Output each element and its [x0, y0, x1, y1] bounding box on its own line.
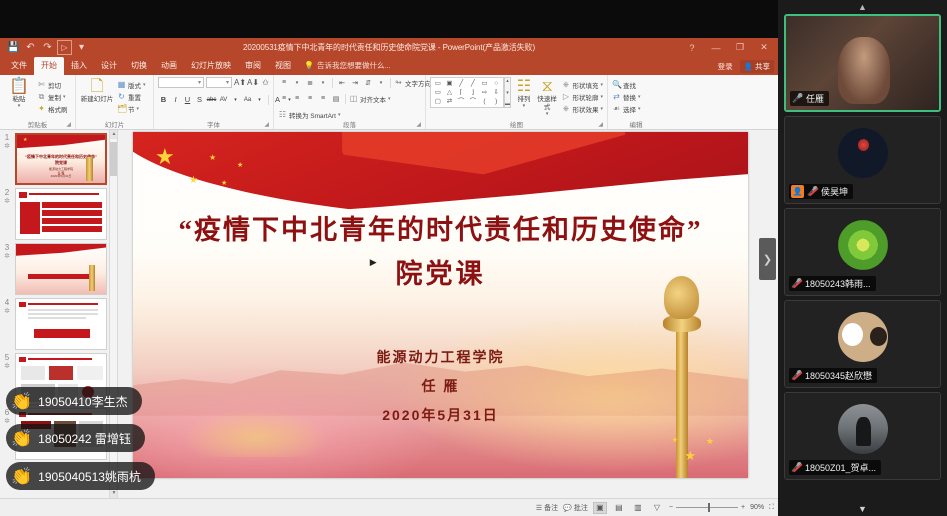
slide-title-line2: 院党课	[133, 252, 748, 291]
format-painter-button[interactable]: ✦ 格式刷	[37, 103, 68, 114]
convert-to-smartart-button[interactable]: ☷ 转换为 SmartArt ▾	[278, 109, 340, 120]
shape-item[interactable]: ⇨	[479, 88, 491, 97]
share-button[interactable]: 👤 共享	[740, 60, 774, 73]
layout-icon: ▦	[117, 80, 126, 89]
shape-item[interactable]: ▣	[444, 79, 456, 88]
smartart-icon: ☷	[278, 110, 287, 119]
change-case-button[interactable]: Aa	[242, 94, 253, 105]
thumbnail-row[interactable]: 1 ✲ ★ “疫情下中北青年的时代责任和历史使命” 院党课 能源动力工程学院 任…	[0, 130, 117, 185]
shape-effects-button[interactable]: ⎈ 形状效果 ▾	[561, 103, 603, 114]
ribbon: 📋 粘贴 ▾ ✄ 剪切 ⧉ 复制 ▾	[0, 75, 778, 130]
text-shadow-button[interactable]: S	[194, 94, 205, 105]
host-badge-icon: 👤	[791, 185, 804, 198]
shape-item[interactable]: ⇩	[490, 88, 502, 97]
lightbulb-icon: 💡	[304, 61, 314, 70]
font-group-label: 字体 ◢	[158, 121, 269, 130]
shape-item[interactable]: (	[479, 97, 491, 106]
scroll-up-arrow[interactable]: ▲	[110, 130, 118, 139]
convert-smartart-label: 转换为 SmartArt	[289, 110, 336, 120]
participant-namebar: 🎤 任雁	[790, 91, 829, 106]
section-label: 节	[128, 104, 135, 114]
editing-group-label: 编辑	[612, 121, 660, 130]
quick-styles-label: 快速样式	[537, 96, 558, 112]
toast-text: 1905040513姚雨杭	[38, 468, 141, 485]
participant-video-rail: ▲ 🎤 任雁 👤 🎤 侯昊坤 🎤 1805024	[778, 0, 947, 516]
dialog-launcher-icon[interactable]: ◢	[598, 121, 603, 130]
shape-item[interactable]: ╱	[455, 79, 467, 88]
divider	[390, 78, 391, 88]
layout-label: 版式	[128, 80, 141, 90]
ribbon-group-clipboard: 📋 粘贴 ▾ ✄ 剪切 ⧉ 复制 ▾	[0, 75, 76, 130]
desktop-background	[0, 0, 778, 38]
participant-name: 18050Z01_贺卓...	[805, 461, 876, 474]
restore-button[interactable]: ❐	[728, 38, 752, 57]
rail-scroll-down-arrow[interactable]: ▼	[778, 502, 947, 516]
toast-text: 19050410李生杰	[38, 393, 127, 410]
participant-tile-1[interactable]: 🎤 任雁	[784, 14, 941, 112]
comments-label: 批注	[574, 503, 588, 513]
shape-item[interactable]: ▢	[432, 97, 444, 106]
dialog-launcher-icon[interactable]: ◢	[264, 121, 269, 130]
copy-button[interactable]: ⧉ 复制 ▾	[37, 91, 68, 102]
fit-to-window-button[interactable]: ⛶	[769, 504, 774, 512]
thumbnail-index: 1 ✲	[2, 133, 12, 185]
slide-stage: ★ ★ ★ ★ ★ “疫情下中北青年的时代责任和历史使命” 院党课 能源动力工程…	[118, 130, 778, 498]
participant-name: 18050243韩雨...	[805, 277, 871, 290]
paintbrush-icon: ✦	[37, 104, 46, 113]
reaction-toast-3[interactable]: 👏 1905040513姚雨杭	[6, 462, 155, 490]
copy-label: 复制	[48, 92, 61, 102]
increase-indent-button[interactable]: ⇥	[349, 77, 361, 88]
paragraph-group-text: 段落	[343, 122, 356, 129]
replace-label: 替换	[623, 92, 636, 102]
chevron-down-icon[interactable]: ▾	[338, 112, 341, 118]
cut-label: 剪切	[48, 80, 61, 90]
participant-name: 任雁	[806, 92, 824, 105]
zoom-slider[interactable]: − +	[669, 504, 745, 511]
editing-group-text: 编辑	[630, 122, 643, 129]
align-text-icon: ◫	[349, 94, 358, 103]
align-text-label: 对齐文本	[360, 94, 386, 104]
status-right: ☰ 备注 💬 批注 ▣ ▤ ▥ ▽ − + 90% ⛶	[536, 502, 778, 514]
title-bar: 💾 ↶ ↷ ▷ ▾ 20200531疫情下中北青年的时代责任和历史使命院党课 -…	[0, 38, 778, 57]
mouse-cursor: ▶	[370, 257, 377, 268]
shape-item[interactable]: ⇄	[444, 97, 456, 106]
find-label: 查找	[623, 80, 636, 90]
slide-subtitle-line-2: 任 雁	[133, 376, 748, 396]
zoom-track[interactable]	[676, 507, 738, 508]
scrollbar-thumb[interactable]	[110, 142, 118, 176]
quick-access-toolbar: 💾 ↶ ↷ ▷ ▾	[0, 40, 89, 55]
shape-outline-button[interactable]: ▷ 形状轮廓 ▾	[561, 91, 603, 102]
animation-star-icon: ✲	[4, 198, 10, 206]
undo-icon[interactable]: ↶	[23, 40, 38, 55]
select-button[interactable]: ☙ 选择 ▾	[612, 103, 641, 114]
new-slide-label: 新建幻灯片	[81, 96, 114, 104]
shape-item[interactable]: ⌋	[467, 88, 479, 97]
start-slideshow-icon[interactable]: ▷	[57, 40, 72, 55]
chevron-down-icon[interactable]: ▾	[638, 106, 641, 112]
character-spacing-button[interactable]: AV	[218, 94, 229, 105]
minimize-button[interactable]: —	[704, 38, 728, 57]
notes-label: 备注	[544, 503, 558, 513]
font-name-caret: ▾	[198, 79, 201, 86]
shape-outline-label: 形状轮廓	[572, 92, 598, 102]
shape-fill-button[interactable]: ⎈ 形状填充 ▾	[561, 79, 603, 90]
slides-group-label: 幻灯片	[80, 121, 149, 130]
font-name-input[interactable]: ▾	[158, 77, 204, 88]
avatar	[838, 312, 888, 362]
microphone-muted-icon[interactable]: 🎤	[807, 186, 818, 197]
toast-text: 18050242 雷增钰	[38, 430, 131, 447]
rail-scroll-up-arrow[interactable]: ▲	[784, 0, 941, 14]
animation-star-icon: ✲	[4, 418, 10, 426]
numbering-button[interactable]: ≣	[304, 77, 316, 88]
animation-star-icon: ✲	[4, 253, 10, 261]
comment-icon: 💬	[563, 504, 572, 512]
format-painter-label: 格式刷	[48, 104, 68, 114]
clap-icon: 👏	[11, 393, 32, 410]
slide-title-line1: “疫情下中北青年的时代责任和历史使命”	[133, 208, 748, 247]
chevron-up-icon[interactable]: ▴	[506, 78, 509, 84]
star-icon: ★	[684, 449, 696, 462]
star-icon: ★	[221, 180, 227, 187]
reset-button[interactable]: ↻ 重置	[117, 91, 146, 102]
tell-me-search[interactable]: 💡 告诉我您想要做什么...	[304, 60, 391, 75]
participant-namebar: 👤 🎤 侯昊坤	[789, 184, 853, 199]
tab-view[interactable]: 视图	[268, 57, 298, 75]
font-size-input[interactable]: ▾	[206, 77, 232, 88]
avatar	[838, 128, 888, 178]
slide-thumbnail-3[interactable]	[15, 243, 107, 295]
bold-button[interactable]: B	[158, 94, 169, 105]
bullets-button[interactable]: ≡	[278, 77, 290, 88]
new-slide-button[interactable]: 🗋 新建幻灯片	[80, 77, 114, 104]
shape-fill-label: 形状填充	[572, 80, 598, 90]
shape-item[interactable]: ○	[490, 79, 502, 88]
zoom-knob[interactable]	[708, 503, 710, 512]
section-icon: 🗂	[117, 104, 126, 113]
participant-namebar: 🎤 18050Z01_贺卓...	[789, 460, 881, 475]
microphone-icon[interactable]: 🎤	[792, 93, 803, 104]
star-icon: ★	[237, 162, 243, 169]
chevron-down-icon[interactable]: ▾	[18, 104, 21, 109]
paragraph-group-label: 段落 ◢	[278, 121, 421, 130]
thumbnail-number: 3	[5, 243, 9, 253]
decrease-font-size-icon[interactable]: A⬇	[247, 78, 258, 87]
clear-formatting-icon[interactable]: ✩	[260, 78, 271, 87]
quick-styles-icon: ⧖	[542, 79, 553, 95]
tab-animations[interactable]: 动画	[154, 57, 184, 75]
ribbon-group-slides: 🗋 新建幻灯片 ▦ 版式 ▾ ↻ 重置	[76, 75, 154, 130]
underline-button[interactable]: U	[182, 94, 193, 105]
shape-item[interactable]: ⌈	[455, 88, 467, 97]
shape-item[interactable]: ▭	[479, 79, 491, 88]
align-text-button[interactable]: ◫ 对齐文本 ▾	[349, 93, 391, 104]
ribbon-tabs: 文件 开始 插入 设计 切换 动画 幻灯片放映 审阅 视图 💡 告诉我您想要做什…	[0, 57, 778, 75]
chevron-down-icon[interactable]: ▾	[143, 82, 146, 88]
clipboard-icon: 📋	[9, 79, 29, 95]
current-slide[interactable]: ★ ★ ★ ★ ★ “疫情下中北青年的时代责任和历史使命” 院党课 能源动力工程…	[133, 132, 748, 478]
tab-insert[interactable]: 插入	[64, 57, 94, 75]
drawing-group-label: 绘图 ◢	[430, 121, 603, 130]
drawing-group-text: 绘图	[510, 122, 523, 129]
cut-button[interactable]: ✄ 剪切	[37, 79, 68, 90]
increase-font-size-icon[interactable]: A⬆	[234, 78, 245, 87]
chevron-down-icon[interactable]: ▾	[137, 106, 140, 112]
signin-button[interactable]: 登录	[718, 61, 733, 72]
slides-group-text: 幻灯片	[105, 122, 125, 129]
ribbon-group-editing: 🔍 查找 ⇄ 替换 ▾ ☙ 选择 ▾	[608, 75, 664, 130]
slide-subtitle-line-1: 能源动力工程学院	[133, 347, 748, 367]
chevron-down-icon[interactable]: ▾	[600, 106, 603, 112]
replace-button[interactable]: ⇄ 替换 ▾	[612, 91, 641, 102]
align-center-button[interactable]: ≡	[291, 93, 303, 104]
divider	[268, 95, 269, 105]
microphone-muted-icon[interactable]: 🎤	[791, 370, 802, 381]
dialog-launcher-icon[interactable]: ◢	[416, 121, 421, 130]
ribbon-group-drawing: ▭ ▣ ╱ ╱ ▭ ○ ▭ △ ⌈ ⌋ ⇨ ⇩ ▢	[426, 75, 608, 130]
reading-view-button[interactable]: ▥	[631, 502, 645, 514]
person-icon: 👤	[744, 62, 753, 71]
customize-quick-access-icon[interactable]: ▾	[74, 40, 89, 55]
window-title: 20200531疫情下中北青年的时代责任和历史使命院党课 - PowerPoin…	[0, 42, 778, 53]
slide-thumbnail-2[interactable]	[15, 188, 107, 240]
shape-effects-icon: ⎈	[561, 104, 570, 114]
thumbnail-number: 2	[5, 188, 9, 198]
participant-tile-2[interactable]: 👤 🎤 侯昊坤	[784, 116, 941, 204]
chevron-down-icon[interactable]: ▾	[291, 77, 303, 88]
justify-button[interactable]: ≡	[317, 93, 329, 104]
tab-file[interactable]: 文件	[4, 57, 34, 75]
slide-title-block[interactable]: “疫情下中北青年的时代责任和历史使命” 院党课	[133, 208, 748, 291]
microphone-muted-icon[interactable]: 🎤	[791, 462, 802, 473]
slide-subtitle-block[interactable]: 能源动力工程学院 任 雁 2020年5月31日	[133, 347, 748, 434]
slide-thumbnail-4[interactable]	[15, 298, 107, 350]
shape-item[interactable]: ▭	[432, 79, 444, 88]
comments-button[interactable]: 💬 批注	[563, 503, 588, 513]
normal-view-button[interactable]: ▣	[593, 502, 607, 514]
star-icon: ★	[189, 176, 198, 186]
avatar	[838, 404, 888, 454]
cursor-icon: ☙	[612, 104, 621, 113]
chevron-down-icon[interactable]: ▾	[638, 94, 641, 100]
section-button[interactable]: 🗂 节 ▾	[117, 103, 146, 114]
shape-item[interactable]: )	[490, 97, 502, 106]
window-controls: ? — ❐ ✕	[680, 38, 776, 57]
participant-namebar: 🎤 18050243韩雨...	[789, 276, 876, 291]
chevron-down-icon[interactable]: ▾	[546, 112, 549, 117]
line-spacing-button[interactable]: ⇵	[362, 77, 374, 88]
thumbnail-row[interactable]: 2 ✲	[0, 185, 117, 240]
quick-styles-button[interactable]: ⧖ 快速样式 ▾	[537, 77, 558, 117]
microphone-muted-icon[interactable]: 🎤	[791, 278, 802, 289]
shapes-gallery[interactable]: ▭ ▣ ╱ ╱ ▭ ○ ▭ △ ⌈ ⌋ ⇨ ⇩ ▢	[430, 77, 504, 108]
more-shapes-icon[interactable]: ▬	[505, 101, 510, 107]
participant-namebar: 🎤 18050345赵欣懋	[789, 368, 877, 383]
find-button[interactable]: 🔍 查找	[612, 79, 641, 90]
new-slide-icon: 🗋	[91, 79, 104, 95]
ribbon-group-paragraph: ≡ ▾ ≣ ▾ ⇤ ⇥ ⇵ ▾ ↬ 文字方向 ▾	[274, 75, 426, 130]
participant-tile-4[interactable]: 🎤 18050345赵欣懋	[784, 300, 941, 388]
arrange-button[interactable]: ☷ 排列 ▾	[515, 77, 533, 109]
tab-home[interactable]: 开始	[34, 57, 64, 75]
tab-review[interactable]: 审阅	[238, 57, 268, 75]
align-left-button[interactable]: ≡	[278, 93, 290, 104]
clipboard-group-label: 剪贴板 ◢	[4, 121, 71, 130]
copy-icon: ⧉	[37, 92, 46, 102]
participant-name: 侯昊坤	[821, 185, 848, 198]
shape-item[interactable]: ╱	[467, 79, 479, 88]
chevron-down-icon[interactable]: ▾	[600, 82, 603, 88]
star-icon: ★	[209, 154, 216, 162]
select-label: 选择	[623, 104, 636, 114]
shape-item[interactable]: ⌒	[455, 97, 467, 106]
chevron-down-icon[interactable]: ▾	[388, 96, 391, 102]
shape-item[interactable]: ▭	[432, 88, 444, 97]
tab-design[interactable]: 设计	[94, 57, 124, 75]
layout-button[interactable]: ▦ 版式 ▾	[117, 79, 146, 90]
tell-me-label: 告诉我您想要做什么...	[317, 60, 391, 71]
shape-effects-label: 形状效果	[572, 104, 598, 114]
ribbon-group-font: ▾ ▾ A⬆ A⬇ ✩ B I U S abc	[154, 75, 274, 130]
share-label: 共享	[755, 61, 770, 72]
thumbnail-number: 1	[5, 133, 9, 143]
zoom-in-button[interactable]: +	[741, 504, 745, 511]
arrange-icon: ☷	[517, 79, 531, 95]
chevron-down-icon[interactable]: ▾	[523, 104, 526, 109]
dialog-launcher-icon[interactable]: ◢	[66, 121, 71, 130]
chevron-down-icon[interactable]: ▾	[375, 77, 387, 88]
search-icon: 🔍	[612, 80, 621, 89]
tab-transitions[interactable]: 切换	[124, 57, 154, 75]
chevron-down-icon[interactable]: ▾	[230, 94, 241, 105]
chevron-down-icon[interactable]: ▾	[506, 90, 509, 96]
thumbnail-number: 5	[5, 353, 9, 363]
chevron-down-icon[interactable]: ▾	[63, 94, 66, 100]
font-group-text: 字体	[207, 122, 220, 129]
thumbnail-index: 4 ✲	[2, 298, 12, 350]
thumbnail-index: 2 ✲	[2, 188, 12, 240]
reaction-toast-2[interactable]: 👏 18050242 雷增钰	[6, 424, 145, 452]
clap-icon: 👏	[11, 430, 32, 447]
columns-button[interactable]: ▤	[330, 93, 342, 104]
clipboard-group-text: 剪贴板	[28, 122, 48, 129]
slide-subtitle-line-3: 2020年5月31日	[133, 405, 748, 425]
decrease-indent-button[interactable]: ⇤	[336, 77, 348, 88]
animation-star-icon: ✲	[4, 143, 10, 151]
status-bar: ☰ 备注 💬 批注 ▣ ▤ ▥ ▽ − + 90% ⛶	[0, 498, 778, 516]
next-slide-button[interactable]: ❯	[759, 238, 776, 280]
star-icon: ★	[155, 146, 175, 168]
help-icon[interactable]: ?	[680, 38, 704, 57]
scroll-down-arrow[interactable]: ▼	[110, 489, 118, 498]
scissors-icon: ✄	[37, 80, 46, 89]
save-icon[interactable]: 💾	[6, 40, 21, 55]
participant-name: 18050345赵欣懋	[805, 369, 872, 382]
notes-button[interactable]: ☰ 备注	[536, 503, 558, 513]
chevron-down-icon[interactable]: ▾	[254, 94, 265, 105]
thumbnail-index: 3 ✲	[2, 243, 12, 295]
animation-star-icon: ✲	[4, 308, 10, 316]
titlebar-right-actions: 登录 👤 共享	[718, 60, 774, 73]
notes-icon: ☰	[536, 504, 542, 512]
align-right-button[interactable]: ≡	[304, 93, 316, 104]
text-direction-icon: ↬	[394, 78, 403, 87]
slide-sorter-button[interactable]: ▤	[612, 502, 626, 514]
thumbnail-number: 4	[5, 298, 9, 308]
divider	[332, 78, 333, 88]
zoom-level-label[interactable]: 90%	[750, 504, 764, 511]
font-size-caret: ▾	[226, 79, 229, 86]
participant-tile-5[interactable]: 🎤 18050Z01_贺卓...	[784, 392, 941, 480]
chevron-down-icon[interactable]: ▾	[317, 77, 329, 88]
star-icon: ★	[672, 437, 678, 444]
participant-tile-3[interactable]: 🎤 18050243韩雨...	[784, 208, 941, 296]
reaction-toast-1[interactable]: 👏 19050410李生杰	[6, 387, 142, 415]
shape-item[interactable]: ⌒	[467, 97, 479, 106]
reset-label: 重置	[128, 92, 141, 102]
replace-icon: ⇄	[612, 92, 621, 101]
clap-icon: 👏	[11, 468, 32, 485]
screen: 💾 ↶ ↷ ▷ ▾ 20200531疫情下中北青年的时代责任和历史使命院党课 -…	[0, 0, 947, 516]
shape-outline-icon: ▷	[561, 92, 570, 101]
thumbnail-row[interactable]: 4 ✲	[0, 295, 117, 350]
zoom-out-button[interactable]: −	[669, 504, 673, 511]
italic-button[interactable]: I	[170, 94, 181, 105]
chevron-down-icon[interactable]: ▾	[600, 94, 603, 100]
slideshow-button[interactable]: ▽	[650, 502, 664, 514]
paste-button[interactable]: 📋 粘贴 ▾	[4, 77, 34, 109]
thumbnail-row[interactable]: 3 ✲	[0, 240, 117, 295]
animation-star-icon: ✲	[4, 363, 10, 371]
shape-fill-icon: ⎈	[561, 80, 570, 90]
divider	[345, 94, 346, 104]
shape-item[interactable]: △	[444, 88, 456, 97]
star-icon: ★	[706, 437, 714, 446]
strikethrough-button[interactable]: abc	[206, 94, 217, 105]
reset-icon: ↻	[117, 92, 126, 101]
tab-slideshow[interactable]: 幻灯片放映	[184, 57, 238, 75]
shapes-gallery-scrollbar[interactable]: ▴ ▾ ▬	[504, 77, 511, 108]
slide-thumbnail-1[interactable]: ★ “疫情下中北青年的时代责任和历史使命” 院党课 能源动力工程学院 任 雁 2…	[15, 133, 107, 185]
close-button[interactable]: ✕	[752, 38, 776, 57]
redo-icon[interactable]: ↷	[40, 40, 55, 55]
avatar	[838, 220, 888, 270]
